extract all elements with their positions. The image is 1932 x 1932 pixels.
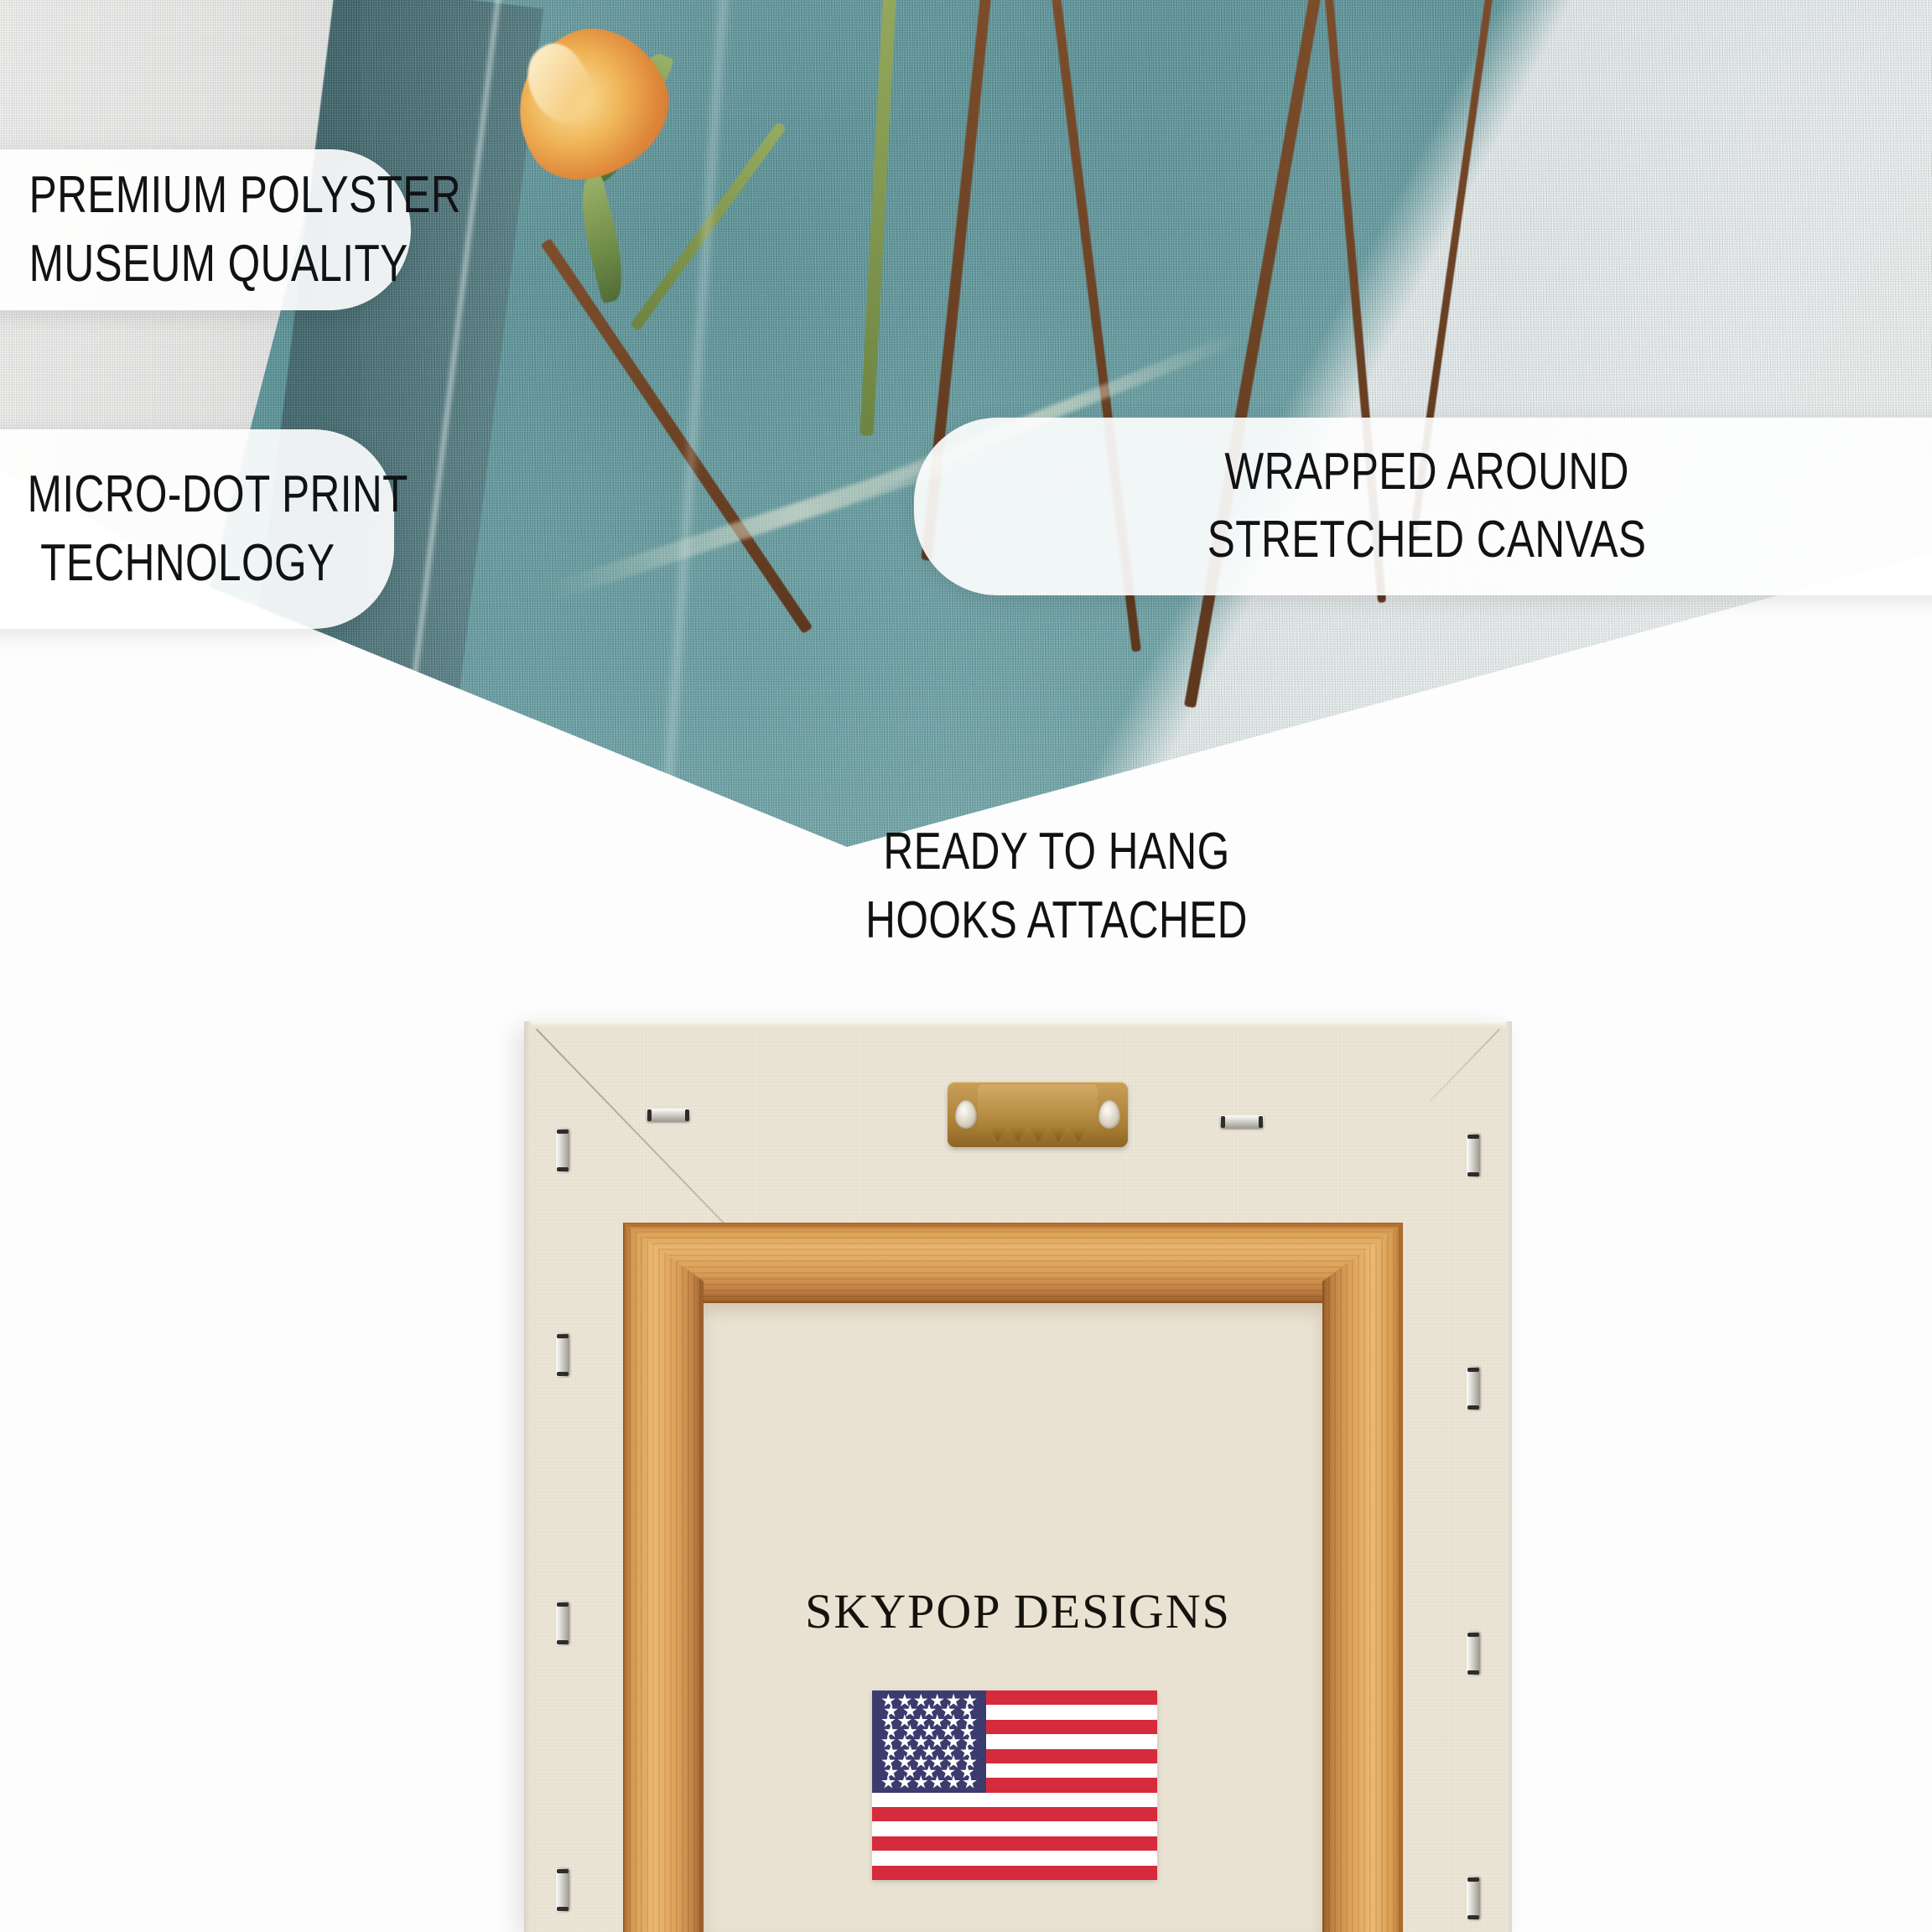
canvas-back-panel: SKYPOP DESIGNS — [524, 1021, 1512, 1932]
hanger-sawtooth-row — [988, 1127, 1088, 1142]
flag-stripe — [872, 1866, 1157, 1880]
flag-stripe — [872, 1851, 1157, 1865]
wood-grain — [623, 1223, 704, 1932]
hanger-tooth — [989, 1127, 1007, 1142]
badge-line-2: MUSEUM QUALITY — [0, 230, 363, 299]
badge-line-2: TECHNOLOGY — [0, 529, 348, 598]
feature-text-ready-to-hang: READY TO HANG HOOKS ATTACHED — [637, 818, 1476, 956]
feature-badge-wrapped-around: WRAPPED AROUND STRETCHED CANVAS — [914, 418, 1932, 595]
canvas-staple — [1220, 1115, 1264, 1129]
stretcher-bar-top — [623, 1223, 1403, 1303]
stretcher-bar-right — [1322, 1223, 1403, 1932]
flag-stripe — [872, 1807, 1157, 1821]
stretcher-bar-left — [623, 1223, 704, 1932]
hanger-screw-hole-right — [1098, 1100, 1120, 1129]
canvas-back-right-edge — [1506, 1021, 1512, 1932]
canvas-back-top-edge — [524, 1021, 1512, 1026]
hanger-tooth — [1009, 1127, 1027, 1142]
hanger-screw-hole-left — [955, 1100, 977, 1129]
flag-stripe — [872, 1793, 1157, 1807]
canvas-staple — [647, 1109, 690, 1122]
canvas-staple — [1467, 1134, 1480, 1177]
brand-name: SKYPOP DESIGNS — [524, 1583, 1512, 1639]
canvas-staple — [1467, 1367, 1480, 1410]
canvas-back-left-edge — [524, 1021, 531, 1932]
hanger-tooth — [1069, 1127, 1088, 1142]
canvas-staple — [1467, 1877, 1480, 1920]
wood-grain — [623, 1223, 1403, 1303]
sawtooth-hanger-icon — [948, 1082, 1128, 1147]
feature-badge-micro-dot-print: MICRO-DOT PRINT TECHNOLOGY — [0, 429, 394, 629]
hanger-tooth — [1049, 1127, 1067, 1142]
badge-line-1: PREMIUM POLYSTER — [0, 161, 363, 230]
badge-line-1: MICRO-DOT PRINT — [0, 460, 348, 529]
wood-grain — [1322, 1223, 1403, 1932]
canvas-staple — [556, 1129, 569, 1172]
us-flag-icon — [872, 1690, 1157, 1880]
flag-stripe — [872, 1836, 1157, 1851]
infographic-canvas: PREMIUM POLYSTER MUSEUM QUALITY MICRO-DO… — [0, 0, 1932, 1932]
hanger-tooth — [1029, 1127, 1047, 1142]
badge-line-1: WRAPPED AROUND — [1023, 439, 1895, 506]
flag-stripe — [872, 1821, 1157, 1836]
badge-line-2: STRETCHED CANVAS — [1023, 506, 1895, 574]
canvas-staple — [556, 1868, 569, 1912]
canvas-staple — [556, 1333, 569, 1377]
ready-line-2: HOOKS ATTACHED — [721, 886, 1392, 955]
hanger-body — [978, 1084, 1098, 1133]
feature-badge-premium-polyster: PREMIUM POLYSTER MUSEUM QUALITY — [0, 149, 411, 310]
ready-line-1: READY TO HANG — [721, 818, 1392, 886]
